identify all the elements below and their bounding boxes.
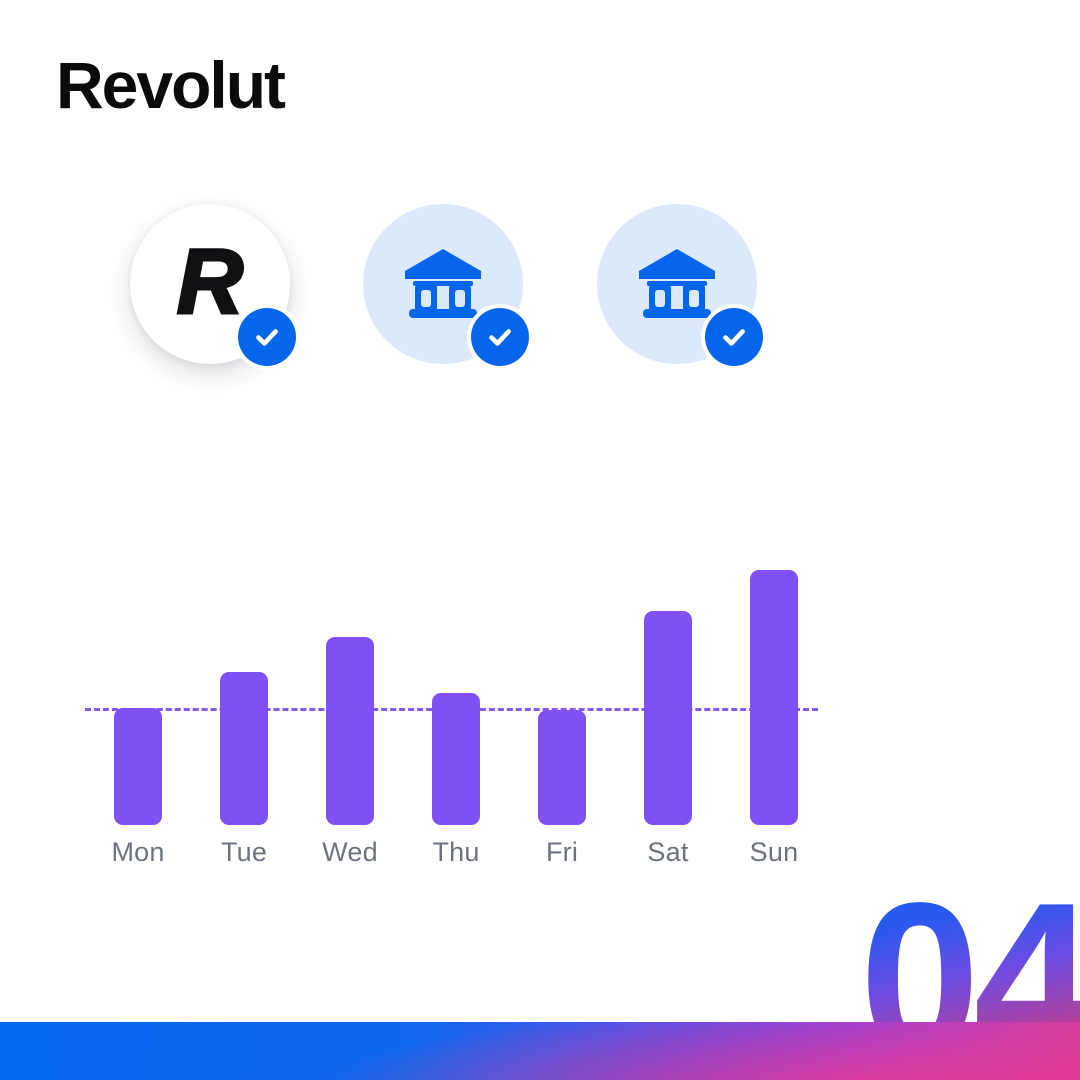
chart-x-tick-label: Sun <box>721 837 827 868</box>
chart-x-tick-label: Sat <box>615 837 721 868</box>
account-chip-bank-2[interactable] <box>597 204 757 364</box>
account-chip-bank-1[interactable] <box>363 204 523 364</box>
check-badge-fill <box>705 308 763 366</box>
chart-bars <box>85 545 845 825</box>
account-chip-revolut[interactable]: R <box>130 204 290 364</box>
check-badge-icon <box>467 304 533 370</box>
chart-x-axis: MonTueWedThuFriSatSun <box>85 837 845 881</box>
check-badge-fill <box>471 308 529 366</box>
chart-bar[interactable] <box>644 611 692 825</box>
poster-canvas: Revolut R <box>0 0 1080 1080</box>
chart-bar[interactable] <box>114 708 162 825</box>
chart-bar[interactable] <box>432 693 480 825</box>
chart-bar-slot <box>509 545 615 825</box>
chart-x-tick-label: Wed <box>297 837 403 868</box>
brand-wordmark: Revolut <box>56 52 284 118</box>
chart-x-tick-label: Mon <box>85 837 191 868</box>
chart-bar-slot <box>403 545 509 825</box>
chart-x-tick-label: Fri <box>509 837 615 868</box>
chart-x-tick-label: Thu <box>403 837 509 868</box>
chart-x-tick-label: Tue <box>191 837 297 868</box>
chart-plot-area <box>85 545 845 825</box>
weekly-bar-chart: MonTueWedThuFriSatSun <box>85 545 845 885</box>
chart-bar[interactable] <box>220 672 268 825</box>
chart-reference-line <box>85 708 818 711</box>
chart-bar-slot <box>191 545 297 825</box>
footer-gradient-band <box>0 1022 1080 1080</box>
chart-bar-slot <box>297 545 403 825</box>
chart-bar-slot <box>85 545 191 825</box>
chart-bar[interactable] <box>538 710 586 825</box>
chart-bar-slot <box>615 545 721 825</box>
chart-bar[interactable] <box>326 637 374 825</box>
chart-bar[interactable] <box>750 570 798 825</box>
connected-accounts-row: R <box>0 196 1080 396</box>
chart-bar-slot <box>721 545 827 825</box>
check-badge-icon <box>701 304 767 370</box>
check-badge-fill <box>238 308 296 366</box>
check-badge-icon <box>234 304 300 370</box>
